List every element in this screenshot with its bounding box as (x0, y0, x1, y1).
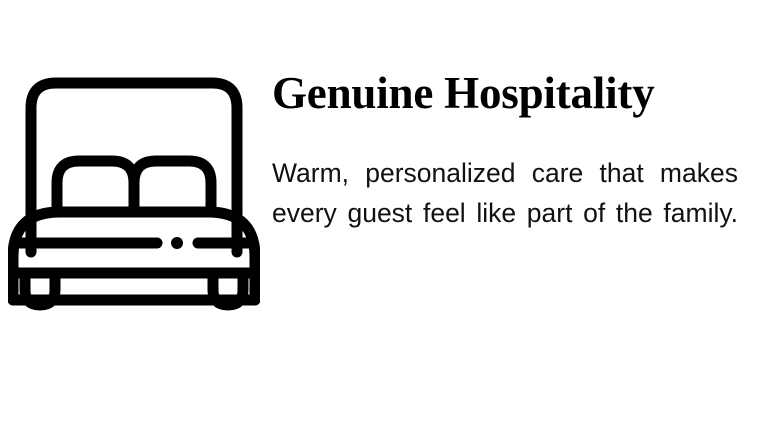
feature-card: Genuine Hospitality Warm, personalized c… (0, 0, 768, 432)
bed-pillow-left-shape (57, 161, 134, 212)
feature-description: Warm, personalized care that makes every… (272, 117, 738, 273)
double-bed-icon (8, 72, 260, 312)
bed-mattress-shape (13, 212, 255, 300)
feature-title: Genuine Hospitality (272, 70, 738, 117)
feature-text-block: Genuine Hospitality Warm, personalized c… (272, 70, 738, 273)
bed-pillow-right-shape (134, 161, 211, 212)
